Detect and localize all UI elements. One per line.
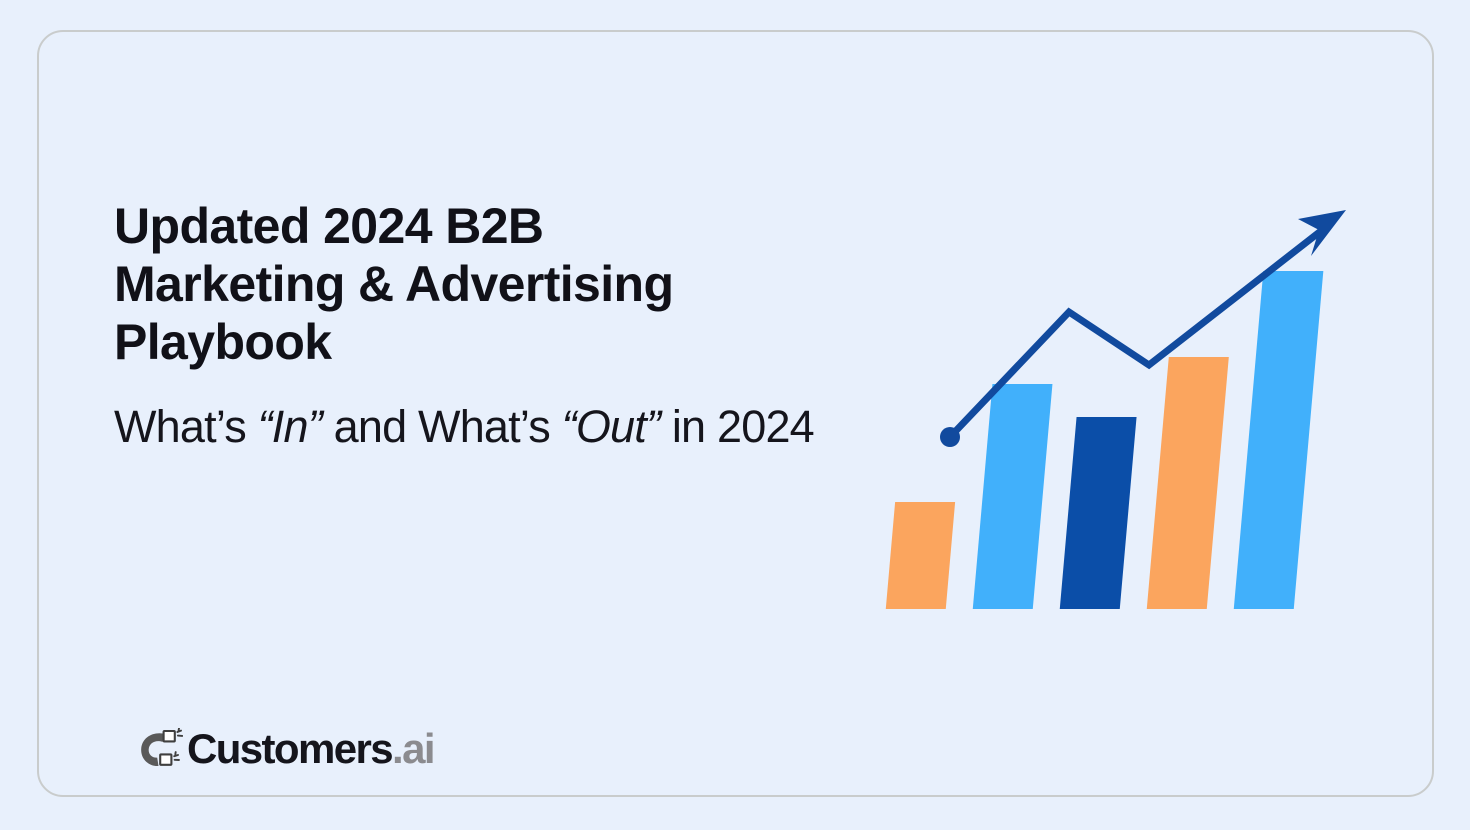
text-column: Updated 2024 B2B Marketing & Advertising…	[114, 197, 814, 455]
trend-arrowhead	[1298, 210, 1346, 256]
growth-bar-chart-illustration	[879, 172, 1399, 642]
chart-bar-1	[886, 502, 955, 609]
subtitle-segment-1: What’s	[114, 401, 258, 452]
page-subtitle: What’s “In” and What’s “Out” in 2024	[114, 399, 814, 455]
chart-svg	[879, 172, 1399, 642]
brand-logo: Customers.ai	[135, 724, 434, 774]
trend-start-dot	[940, 427, 960, 447]
slide-card: Updated 2024 B2B Marketing & Advertising…	[37, 30, 1434, 797]
brand-wordmark: Customers.ai	[187, 728, 434, 770]
chart-bar-2	[973, 384, 1053, 609]
subtitle-segment-3: in 2024	[660, 401, 814, 452]
chart-bar-3	[1060, 417, 1137, 609]
page-title: Updated 2024 B2B Marketing & Advertising…	[114, 197, 814, 371]
chart-bar-5	[1234, 271, 1324, 609]
brand-tld: .ai	[392, 725, 434, 772]
subtitle-emphasis-in: “In”	[258, 401, 322, 452]
subtitle-emphasis-out: “Out”	[562, 401, 661, 452]
subtitle-segment-2: and What’s	[322, 401, 562, 452]
magnet-icon	[135, 728, 183, 770]
chart-bar-4	[1147, 357, 1229, 609]
brand-name: Customers	[187, 725, 392, 772]
